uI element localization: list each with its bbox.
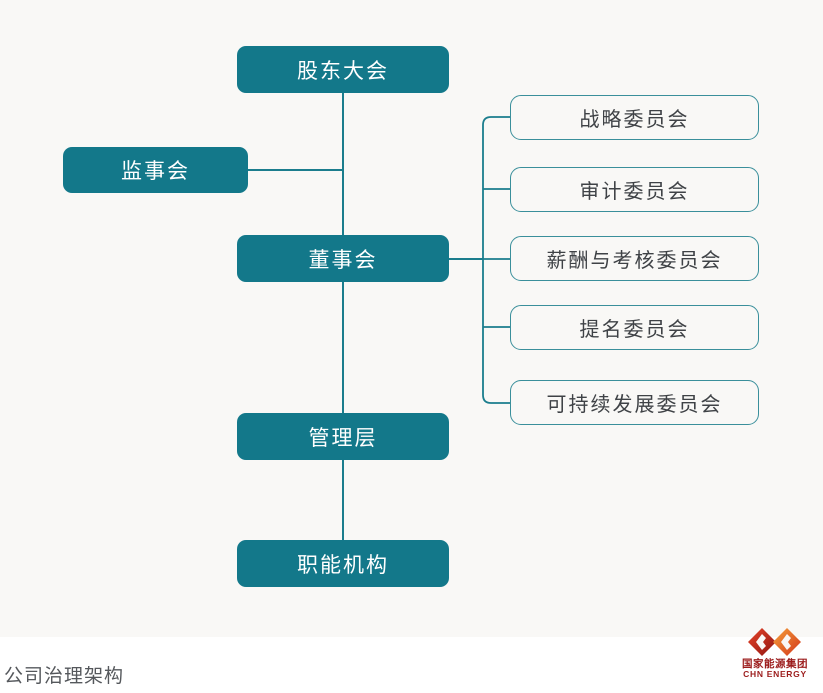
node-shareholders-meeting[interactable]: 股东大会 [237,46,449,93]
company-logo: 国家能源集团 CHN ENERGY [733,627,817,685]
figure-caption: 公司治理架构 [4,661,124,688]
node-label: 职能机构 [297,549,389,579]
node-label: 审计委员会 [580,175,690,204]
node-nomination-committee[interactable]: 提名委员会 [510,305,759,350]
node-audit-committee[interactable]: 审计委员会 [510,167,759,212]
node-label: 董事会 [309,244,378,274]
chn-energy-logo-icon [747,627,803,657]
node-strategy-committee[interactable]: 战略委员会 [510,95,759,140]
node-label: 股东大会 [297,55,389,85]
node-label: 战略委员会 [580,103,690,132]
node-label: 可持续发展委员会 [547,388,723,417]
node-compensation-and-appraisal-committee[interactable]: 薪酬与考核委员会 [510,236,759,281]
committee-bus-spine [483,117,510,403]
org-chart-canvas: 股东大会 董事会 管理层 职能机构 监事会 战略委员会 审计委员会 薪酬与考核委… [0,0,823,637]
node-label: 管理层 [309,422,378,452]
node-functional-departments[interactable]: 职能机构 [237,540,449,587]
node-board-of-supervisors[interactable]: 监事会 [63,147,248,193]
node-management[interactable]: 管理层 [237,413,449,460]
node-label: 提名委员会 [580,313,690,342]
node-label: 薪酬与考核委员会 [547,244,723,273]
node-sustainable-development-committee[interactable]: 可持续发展委员会 [510,380,759,425]
footer-bar: 公司治理架构 国家能源集团 CHN ENERGY [0,637,823,693]
logo-name-en: CHN ENERGY [733,669,817,679]
node-board-of-directors[interactable]: 董事会 [237,235,449,282]
node-label: 监事会 [121,155,190,185]
